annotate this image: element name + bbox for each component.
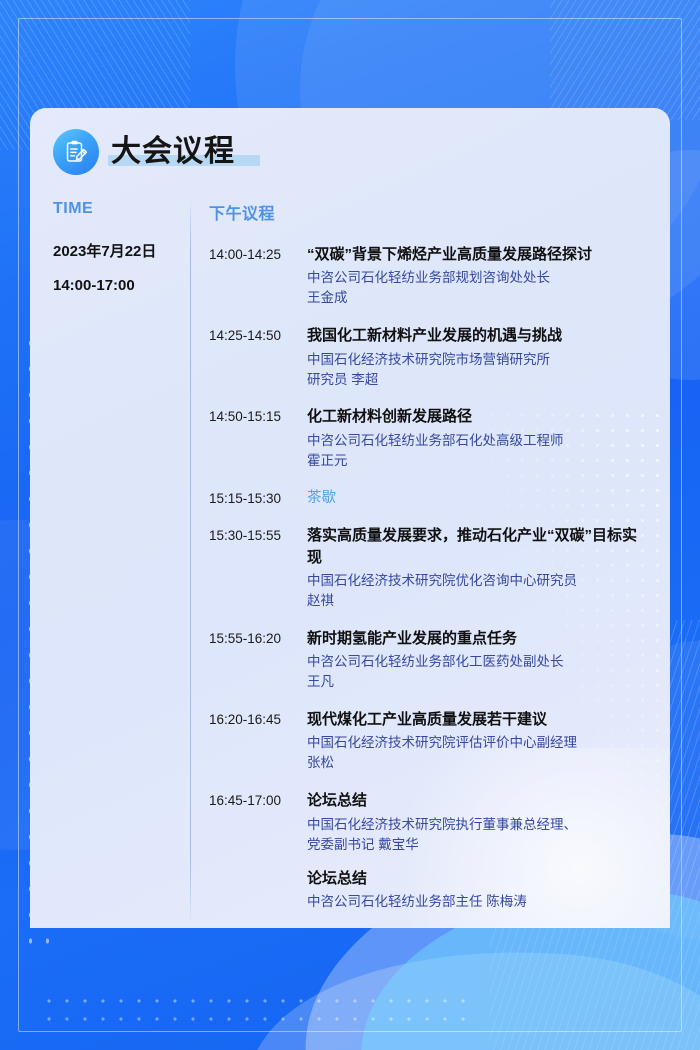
agenda-row-time: 16:20-16:45 xyxy=(209,709,295,730)
agenda-row-title: 新时期氢能产业发展的重点任务 xyxy=(307,628,649,649)
time-column: TIME 2023年7月22日 14:00-17:00 xyxy=(53,200,188,294)
agenda-row-extra-speaker: 中咨公司石化轻纺业务部主任 陈梅涛 xyxy=(307,892,649,912)
agenda-row: 16:45-17:00论坛总结中国石化经济技术研究院执行董事兼总经理、党委副书记… xyxy=(209,790,649,912)
agenda-row: 15:55-16:20新时期氢能产业发展的重点任务中咨公司石化轻纺业务部化工医药… xyxy=(209,628,649,692)
card-header: 大会议程 xyxy=(53,129,235,175)
agenda-row-speaker: 中咨公司石化轻纺业务部石化处高级工程师霍正元 xyxy=(307,431,649,471)
agenda-row: 15:30-15:55落实高质量发展要求，推动石化产业“双碳”目标实现中国石化经… xyxy=(209,525,649,611)
agenda-row: 14:00-14:25“双碳”背景下烯烃产业高质量发展路径探讨中咨公司石化轻纺业… xyxy=(209,244,649,308)
agenda-row-title: 我国化工新材料产业发展的机遇与挑战 xyxy=(307,325,649,346)
agenda-row-title: 论坛总结 xyxy=(307,790,649,811)
agenda-row-title: “双碳”背景下烯烃产业高质量发展路径探讨 xyxy=(307,244,649,265)
agenda-row-speaker: 中咨公司石化轻纺业务部规划咨询处处长王金成 xyxy=(307,268,649,308)
agenda-row-time: 15:55-16:20 xyxy=(209,628,295,649)
agenda-row-speaker: 中国石化经济技术研究院市场营销研究所研究员 李超 xyxy=(307,350,649,390)
agenda-row: 16:20-16:45现代煤化工产业高质量发展若干建议中国石化经济技术研究院评估… xyxy=(209,709,649,773)
page-title-wrapper: 大会议程 xyxy=(111,137,235,167)
time-column-label: TIME xyxy=(53,200,188,218)
column-divider xyxy=(190,197,191,925)
agenda-row: 14:50-15:15化工新材料创新发展路径中咨公司石化轻纺业务部石化处高级工程… xyxy=(209,406,649,470)
agenda-row: 14:25-14:50我国化工新材料产业发展的机遇与挑战中国石化经济技术研究院市… xyxy=(209,325,649,389)
agenda-row-body: 现代煤化工产业高质量发展若干建议中国石化经济技术研究院评估评价中心副经理张松 xyxy=(295,709,649,773)
agenda-row-title: 化工新材料创新发展路径 xyxy=(307,406,649,427)
page-title: 大会议程 xyxy=(111,137,235,167)
agenda-column-label: 下午议程 xyxy=(209,200,649,224)
agenda-row-time: 14:00-14:25 xyxy=(209,244,295,265)
event-time-range: 14:00-17:00 xyxy=(53,277,188,294)
agenda-row-title: 落实高质量发展要求，推动石化产业“双碳”目标实现 xyxy=(307,525,649,568)
agenda-row-title: 茶歇 xyxy=(307,488,649,509)
agenda-row-time: 14:25-14:50 xyxy=(209,325,295,346)
agenda-row-time: 15:30-15:55 xyxy=(209,525,295,546)
agenda-row-speaker: 中国石化经济技术研究院优化咨询中心研究员赵祺 xyxy=(307,571,649,611)
agenda-row-body: “双碳”背景下烯烃产业高质量发展路径探讨中咨公司石化轻纺业务部规划咨询处处长王金… xyxy=(295,244,649,308)
agenda-row-body: 我国化工新材料产业发展的机遇与挑战中国石化经济技术研究院市场营销研究所研究员 李… xyxy=(295,325,649,389)
event-date: 2023年7月22日 xyxy=(53,240,188,261)
agenda-row-speaker: 中国石化经济技术研究院执行董事兼总经理、党委副书记 戴宝华 xyxy=(307,815,649,855)
agenda-card: 大会议程 TIME 2023年7月22日 14:00-17:00 下午议程 14… xyxy=(30,108,670,928)
dot-pattern-bottom xyxy=(40,992,470,1022)
agenda-row-time: 15:15-15:30 xyxy=(209,488,295,509)
agenda-row-body: 茶歇 xyxy=(295,488,649,509)
agenda-row-title: 现代煤化工产业高质量发展若干建议 xyxy=(307,709,649,730)
agenda-row-extra-title: 论坛总结 xyxy=(307,868,649,889)
agenda-row-speaker: 中咨公司石化轻纺业务部化工医药处副处长王凡 xyxy=(307,652,649,692)
agenda-row-list: 14:00-14:25“双碳”背景下烯烃产业高质量发展路径探讨中咨公司石化轻纺业… xyxy=(209,244,649,912)
agenda-row-time: 16:45-17:00 xyxy=(209,790,295,811)
agenda-row-speaker: 中国石化经济技术研究院评估评价中心副经理张松 xyxy=(307,733,649,773)
agenda-column: 下午议程 14:00-14:25“双碳”背景下烯烃产业高质量发展路径探讨中咨公司… xyxy=(209,200,649,928)
agenda-row-body: 论坛总结中国石化经济技术研究院执行董事兼总经理、党委副书记 戴宝华论坛总结中咨公… xyxy=(295,790,649,912)
agenda-row: 15:15-15:30茶歇 xyxy=(209,488,649,509)
agenda-poster: 大会议程 TIME 2023年7月22日 14:00-17:00 下午议程 14… xyxy=(0,0,700,1050)
agenda-row-body: 化工新材料创新发展路径中咨公司石化轻纺业务部石化处高级工程师霍正元 xyxy=(295,406,649,470)
agenda-row-body: 落实高质量发展要求，推动石化产业“双碳”目标实现中国石化经济技术研究院优化咨询中… xyxy=(295,525,649,611)
agenda-row-time: 14:50-15:15 xyxy=(209,406,295,427)
agenda-row-body: 新时期氢能产业发展的重点任务中咨公司石化轻纺业务部化工医药处副处长王凡 xyxy=(295,628,649,692)
clipboard-pencil-icon xyxy=(53,129,99,175)
agenda-row-extra: 论坛总结中咨公司石化轻纺业务部主任 陈梅涛 xyxy=(307,868,649,912)
